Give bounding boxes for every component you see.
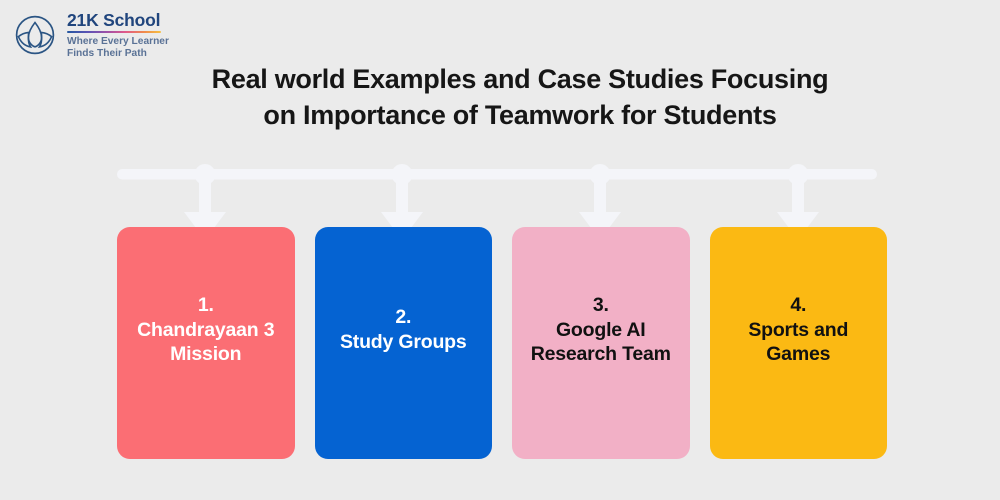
brand-tagline-line-1: Where Every Learner [67,36,169,48]
page-title-line-1: Real world Examples and Case Studies Foc… [150,62,890,98]
page-title: Real world Examples and Case Studies Foc… [150,62,890,133]
lotus-circle-emblem-icon [12,12,58,58]
page-title-line-2: on Importance of Teamwork for Students [150,98,890,134]
brand-gradient-rule [67,31,161,34]
card-1-label: 1. Chandrayaan 3 Mission [137,293,274,368]
connector-horizontal-line [117,169,877,180]
card-row: 1. Chandrayaan 3 Mission 2. Study Groups… [117,227,887,459]
card-3-google-ai-research-team[interactable]: 3. Google AI Research Team [512,227,690,459]
card-4-label: 4. Sports and Games [748,293,848,368]
card-2-study-groups[interactable]: 2. Study Groups [315,227,493,459]
brand-logo[interactable]: 21K School Where Every Learner Finds The… [12,10,169,61]
brand-name: 21K School [67,11,169,29]
card-1-chandrayaan-3-mission[interactable]: 1. Chandrayaan 3 Mission [117,227,295,459]
connector-node-dot-icon [788,164,809,185]
brand-tagline-line-2: Finds Their Path [67,48,169,60]
card-4-sports-and-games[interactable]: 4. Sports and Games [710,227,888,459]
connector-node-dot-icon [195,164,216,185]
connector-node-dot-icon [590,164,611,185]
card-2-label: 2. Study Groups [340,305,467,355]
brand-text: 21K School Where Every Learner Finds The… [67,10,169,61]
connector-node-dot-icon [392,164,413,185]
card-3-label: 3. Google AI Research Team [531,293,671,368]
